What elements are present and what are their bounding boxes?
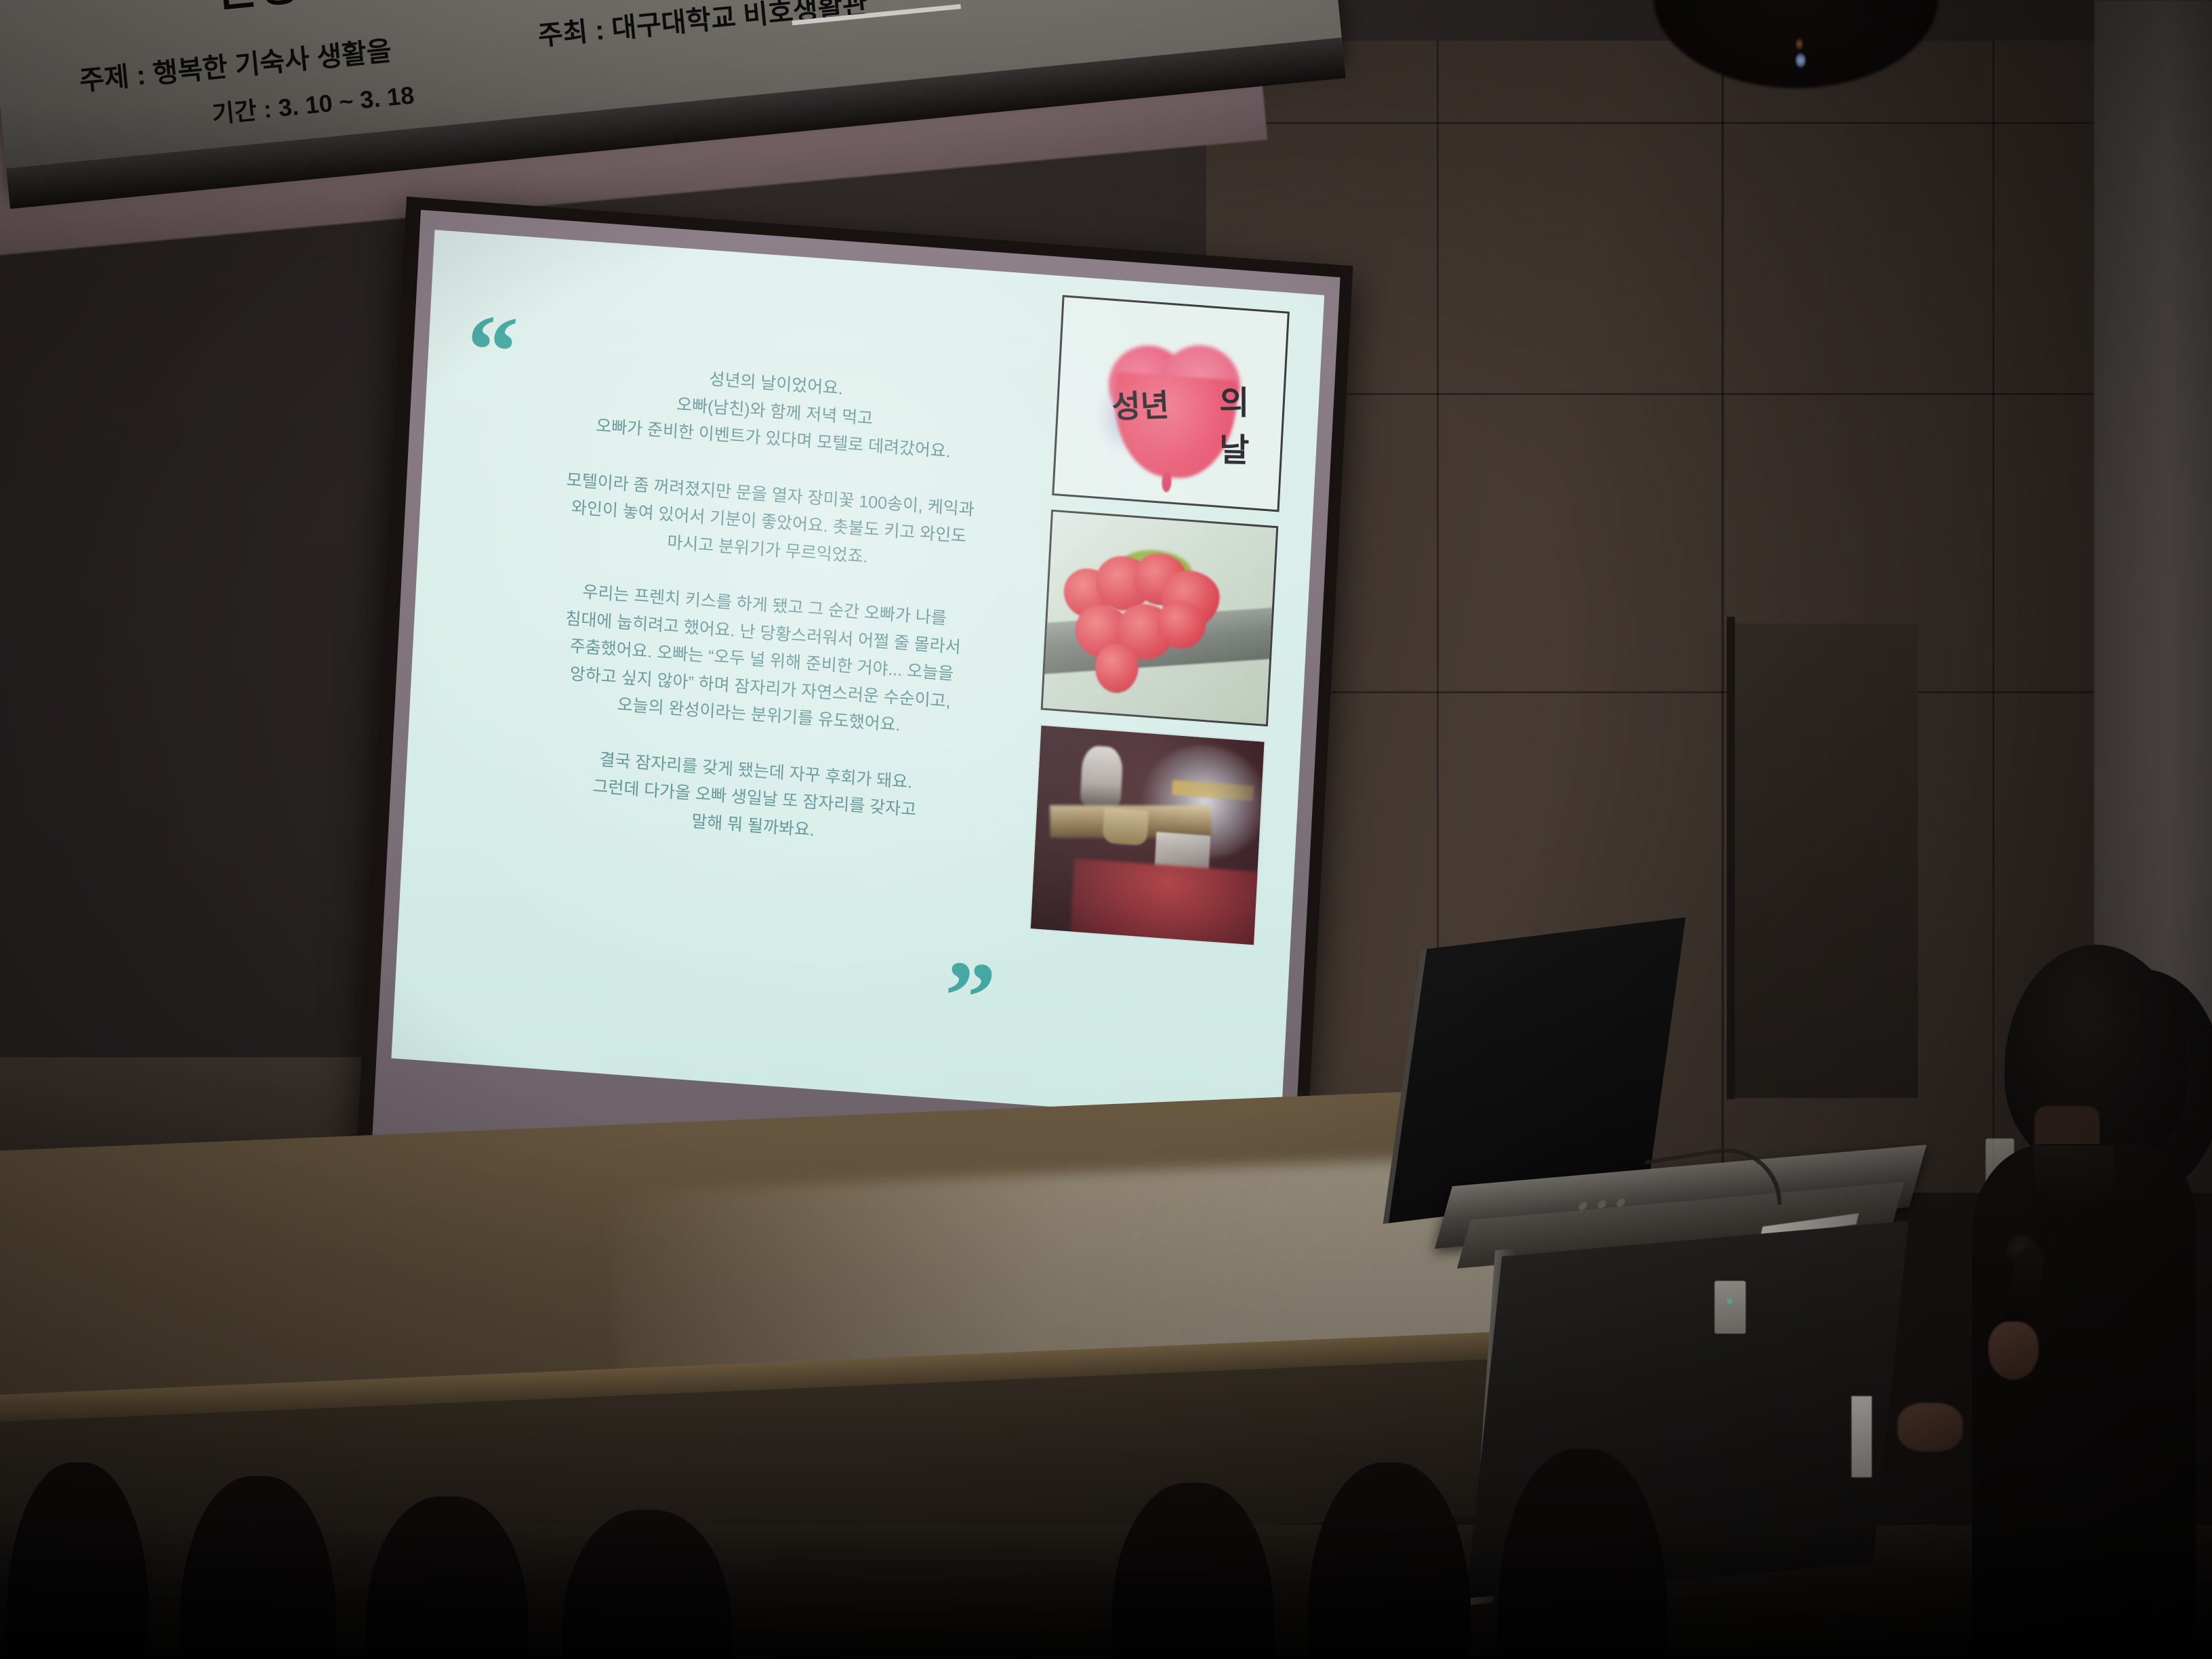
- slide-paragraph-1: 성년의 날이었어요. 오빠(남친)와 함께 저녁 먹고 오빠가 준비한 이벤트가…: [526, 352, 1024, 471]
- projector-warm-led: [1796, 38, 1803, 50]
- bed: [1070, 859, 1264, 947]
- slide-photo-watercolor-heart: 성년 의 날: [1052, 295, 1290, 512]
- outlet-indicator-led: [1727, 1298, 1732, 1304]
- right-wall-highlight: [2094, 0, 2212, 1084]
- presenter-hand-holding-mic: [1988, 1322, 2039, 1380]
- projection-screen: “ ” 성년의 날이었어요. 오빠(남친)와 함께 저녁 먹고 오빠가 준비한 …: [355, 197, 1353, 1248]
- watercolor-drip: [1162, 472, 1172, 493]
- quote-close-icon: ”: [943, 960, 997, 1035]
- presenter-hand-on-lectern: [1898, 1403, 1963, 1452]
- slide-paragraph-3: 우리는 프렌치 키스를 하게 됐고 그 순간 오빠가 나를 침대에 눕히려고 했…: [512, 573, 1012, 747]
- door-jamb: [1727, 617, 1735, 1099]
- slide-paragraph-4: 결국 잠자리를 갖게 됐는데 자꾸 후회가 돼요. 그런데 다가올 오빠 생일날…: [506, 739, 1004, 858]
- slide-quote-text: 성년의 날이었어요. 오빠(남친)와 함께 저녁 먹고 오빠가 준비한 이벤트가…: [506, 352, 1023, 858]
- projector-status-led: [1796, 53, 1805, 68]
- presenter-torso: [1972, 1144, 2196, 1659]
- silhouette-figure: [1080, 745, 1124, 808]
- wall-outlet: [1715, 1281, 1746, 1334]
- auditorium-photo: 인성교육 주제 : 행복한 기숙사 생활을 주최 : 대구대학교 비호생활관 기…: [0, 0, 2212, 1659]
- door: [1735, 623, 1918, 1098]
- handwriting-text-1: 성년: [1111, 381, 1170, 428]
- handwriting-text-2: 의 날: [1219, 375, 1282, 472]
- presenter: [1952, 928, 2212, 1659]
- slide-photo-red-roses: [1041, 510, 1279, 726]
- cup: [1103, 808, 1149, 846]
- projected-slide: “ ” 성년의 날이었어요. 오빠(남친)와 함께 저녁 먹고 오빠가 준비한 …: [391, 230, 1324, 1124]
- slide-paragraph-2: 모텔이라 좀 꺼려졌지만 문을 열자 장미꽃 100송이, 케익과 와인이 놓여…: [520, 463, 1018, 581]
- quote-open-icon: “: [465, 314, 519, 388]
- slide-photo-candlelit-room: [1029, 724, 1266, 946]
- presenter-notes: [1851, 1396, 1872, 1477]
